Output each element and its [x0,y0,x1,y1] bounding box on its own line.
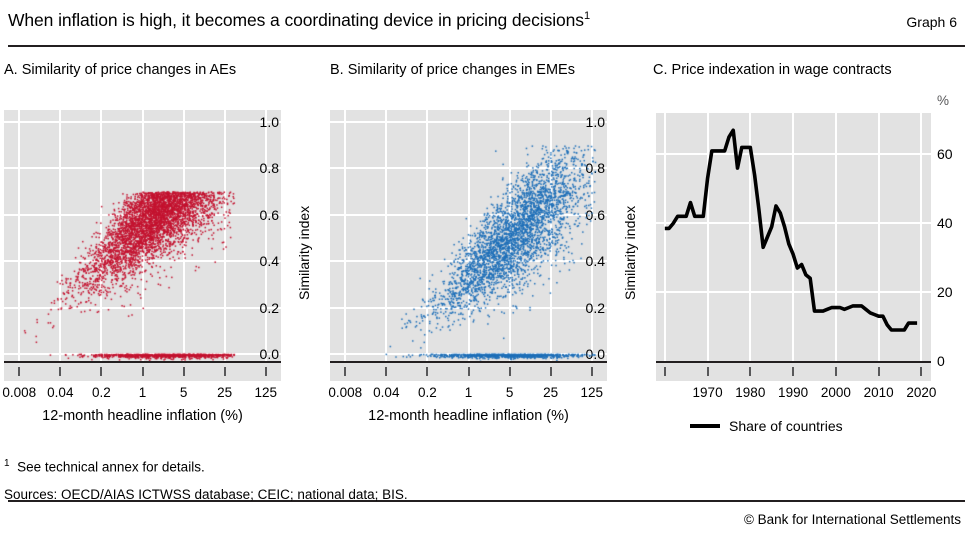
panel-c-tick-row [656,363,931,381]
x-tick-2 [100,367,102,376]
panel-a-xaxis-title: 12-month headline inflation (%) [4,408,281,424]
panel-c-legend: Share of countries [690,418,843,434]
x-tick-label-6: 125 [580,385,603,400]
panel-a-title: A. Similarity of price changes in AEs [4,62,236,78]
panel-b-title: B. Similarity of price changes in EMEs [330,62,575,78]
x-tick-label-3: 1 [465,385,473,400]
y-tick-label-3: 60 [937,146,953,162]
legend-line-swatch [690,424,720,428]
panel-a-plot-area: 0.00.20.40.60.81.0 [4,110,281,361]
panel-b-xaxis-title: 12-month headline inflation (%) [330,408,607,424]
x-tick-label-5: 25 [217,385,232,400]
x-tick-5 [878,367,880,376]
x-tick-label-2: 0.2 [418,385,437,400]
x-tick-2 [426,367,428,376]
header-divider [8,45,965,47]
x-tick-4 [835,367,837,376]
x-tick-label-1: 0.04 [373,385,399,400]
footnote-text: See technical annex for details. [17,460,205,475]
panel-a-xtick-labels: 0.0080.040.21525125 [4,385,281,403]
panel-c-unit-label: % [937,93,949,108]
sources-line: Sources: OECD/AIAS ICTWSS database; CEIC… [4,487,408,502]
footnote-marker: 1 [4,458,10,469]
x-tick-label-0: 0.008 [328,385,362,400]
x-tick-3 [142,367,144,376]
header: When inflation is high, it becomes a coo… [8,8,957,44]
x-tick-5 [224,367,226,376]
x-tick-label-4: 2000 [821,385,851,400]
y-tick-label-1: 20 [937,284,953,300]
x-tick-6 [591,367,593,376]
x-tick-3 [468,367,470,376]
x-tick-label-6: 125 [254,385,277,400]
panel-b-yaxis-title: Similarity index [622,206,638,300]
panel-c-plot-area [656,113,931,361]
x-tick-0 [18,367,20,376]
panel-c-xtick-labels: 197019801990200020102020 [656,385,931,403]
x-tick-3 [792,367,794,376]
x-tick-label-1: 1970 [693,385,723,400]
page-title-text: When inflation is high, it becomes a coo… [8,10,584,30]
x-tick-label-2: 1980 [735,385,765,400]
panel-a-tick-row [4,363,281,381]
panel-a-yaxis-title: Similarity index [296,206,312,300]
footnote-1: 1 See technical annex for details. [4,458,205,475]
panel-c-ytick-labels: 0204060 [931,113,965,363]
page-title: When inflation is high, it becomes a coo… [8,10,590,31]
x-tick-6 [265,367,267,376]
y-tick-label-2: 40 [937,215,953,231]
x-tick-1 [59,367,61,376]
y-tick-label-0: 0 [937,353,945,369]
title-footnote-marker: 1 [584,10,590,22]
x-tick-1 [707,367,709,376]
eme-scatter-points [330,110,607,361]
x-tick-1 [385,367,387,376]
x-tick-label-3: 1 [139,385,147,400]
x-tick-label-3: 1990 [778,385,808,400]
x-tick-5 [550,367,552,376]
graph-number: Graph 6 [906,14,957,30]
x-tick-label-1: 0.04 [47,385,73,400]
x-tick-label-5: 25 [543,385,558,400]
panel-c-title: C. Price indexation in wage contracts [653,62,892,78]
panel-b-plot-area: 0.00.20.40.60.81.0 [330,110,607,361]
x-tick-4 [509,367,511,376]
panel-b-xtick-labels: 0.0080.040.21525125 [330,385,607,403]
x-tick-label-4: 5 [506,385,514,400]
x-tick-label-2: 0.2 [92,385,111,400]
x-tick-0 [664,367,666,376]
panel-b-tick-row [330,363,607,381]
legend-label-share-of-countries: Share of countries [729,418,843,434]
share-of-countries-line [656,113,931,361]
x-tick-label-4: 5 [180,385,188,400]
copyright-line: © Bank for International Settlements [744,512,961,527]
x-tick-6 [920,367,922,376]
ae-scatter-points [4,110,281,361]
x-tick-4 [183,367,185,376]
x-tick-2 [749,367,751,376]
x-tick-label-5: 2010 [864,385,894,400]
graph-page: When inflation is high, it becomes a coo… [0,0,965,543]
x-tick-label-0: 0.008 [2,385,36,400]
x-tick-label-6: 2020 [906,385,936,400]
x-tick-0 [344,367,346,376]
